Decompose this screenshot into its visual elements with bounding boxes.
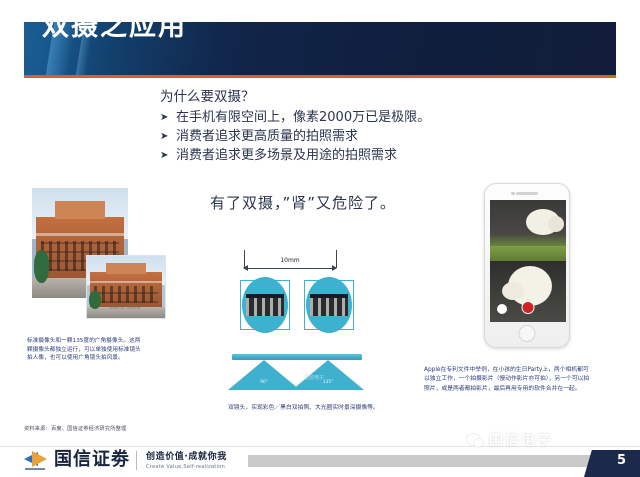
- angle-label-left: 90°: [249, 380, 279, 385]
- list-item: ➤ 消费者追求更多场景及用途的拍照需求: [160, 146, 510, 165]
- list-item-label: 消费者追求更多场景及用途的拍照需求: [176, 146, 397, 165]
- bullet-list: ➤ 在手机有限空间上，像素2000万已是极限。 ➤ 消费者追求更高质量的拍照需求…: [160, 108, 510, 165]
- slide-canvas: 双摄之应用 为什么要双摄？ ➤ 在手机有限空间上，像素2000万已是极限。 ➤ …: [0, 0, 640, 477]
- logo-name: 国信证劵: [54, 450, 130, 470]
- tagline-en: Create Value,Self-realization: [146, 463, 227, 471]
- page-number-tab: [584, 450, 640, 477]
- page-number: 5: [617, 453, 626, 468]
- arrow-icon: ➤: [160, 108, 176, 127]
- wechat-icon: [466, 433, 484, 448]
- dimension-line: [244, 268, 336, 269]
- camera-view-top: [490, 200, 566, 261]
- lens-preview-image: [310, 294, 348, 316]
- dimension-label: 10mm: [266, 257, 314, 264]
- cat-subject-detail: [502, 282, 524, 300]
- diagram-watermark: 国信电子: [304, 374, 324, 381]
- record-button[interactable]: [522, 301, 535, 314]
- arrow-icon: ➤: [160, 127, 176, 146]
- tagline-block: 创造价值·成就你我 Create Value,Self-realization: [146, 451, 227, 471]
- tagline-cn: 创造价值·成就你我: [146, 451, 227, 463]
- wechat-watermark: 国信电子: [466, 430, 553, 450]
- tree-left: [34, 250, 49, 283]
- wechat-bubble-small: [473, 438, 484, 448]
- camera-label: Wide-in Camera: [96, 305, 154, 311]
- lens-left: [240, 280, 290, 330]
- right-caption: Apple在专利文件中举例，在小孩的生日Party上，两个相机都可以独立工作，一…: [424, 366, 594, 394]
- fov-cone-left: [228, 360, 300, 390]
- list-item: ➤ 在手机有限空间上，像素2000万已是极限。: [160, 108, 510, 127]
- page-title: 双摄之应用: [42, 10, 187, 44]
- cat-subject-detail: [548, 216, 564, 232]
- bullet-question: 为什么要双摄？: [160, 88, 510, 107]
- windows: [94, 286, 157, 303]
- center-caption: 双镜头，实现彩色／黑白双拍照、大光圈实时景深摄像等。: [228, 404, 383, 413]
- gallery-thumbnail-button[interactable]: [497, 304, 507, 314]
- fov-cone-right: [292, 360, 364, 390]
- lens-preview-image: [246, 294, 284, 316]
- list-item-label: 消费者追求更高质量的拍照需求: [176, 127, 358, 146]
- arrow-icon: ➤: [160, 146, 176, 165]
- footer-grey-bar: [248, 455, 640, 467]
- front-camera-icon: [511, 192, 515, 196]
- list-item-label: 在手机有限空间上，像素2000万已是极限。: [176, 108, 430, 127]
- phone-mockup: [484, 183, 570, 348]
- grass-strip: [490, 246, 566, 261]
- logo-divider: [136, 451, 137, 470]
- watermark-label: 国信电子: [489, 430, 553, 450]
- home-button[interactable]: [519, 325, 536, 342]
- bullet-block: 为什么要双摄？ ➤ 在手机有限空间上，像素2000万已是极限。 ➤ 消费者追求更…: [160, 88, 510, 165]
- logo-underbar: [25, 468, 45, 471]
- list-item: ➤ 消费者追求更高质量的拍照需求: [160, 127, 510, 146]
- source-note: 资料来源：百度、国信证券经济研究所整理: [24, 425, 126, 432]
- headline-text: 有了双摄，”肾”又危险了。: [210, 192, 396, 213]
- phone-screen: [490, 200, 566, 322]
- left-caption: 标准摄像头和一颗135度的广角摄像头。这两颗摄像头都独立运行，可以单独使用标准镜…: [27, 337, 142, 363]
- preview-figures: [310, 298, 348, 316]
- logo-arrow-icon: [24, 450, 50, 470]
- lens-right: [304, 280, 354, 330]
- preview-figures: [246, 298, 284, 316]
- dual-lens-diagram: 10mm 90° 135° 国信电子: [216, 248, 376, 388]
- earpiece-speaker: [516, 192, 538, 195]
- logo-arrow-orange: [32, 451, 47, 467]
- company-logo: 国信证劵: [24, 450, 130, 470]
- camera-view-bottom: [490, 261, 566, 322]
